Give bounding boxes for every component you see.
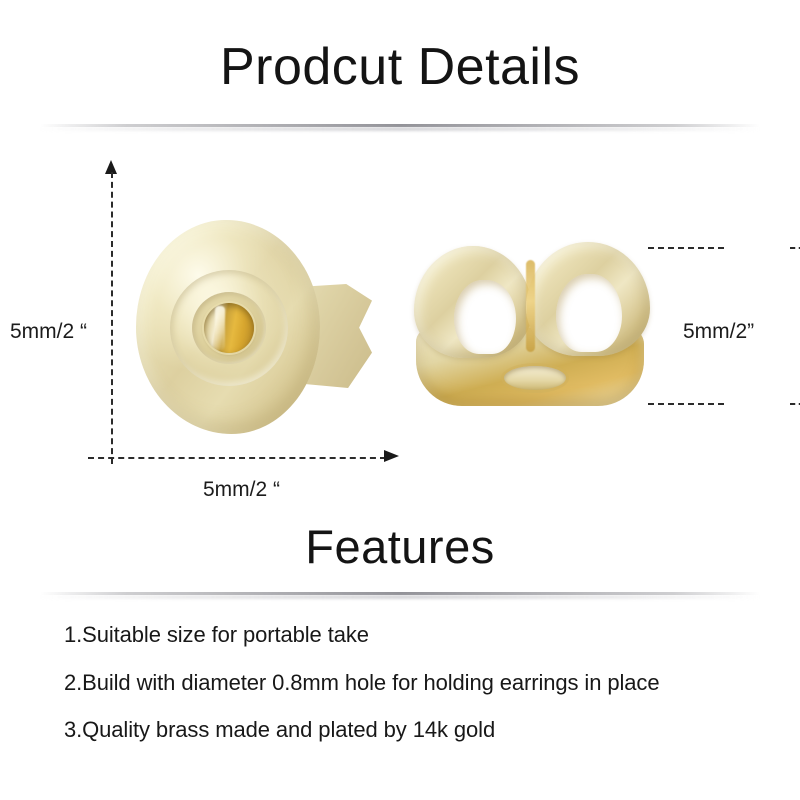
product-detail-page: Prodcut Details 5mm/2 “ 5mm/2 “ 5mm/2” F… (0, 0, 800, 800)
title-divider (40, 124, 760, 127)
vertical-dimension-line (111, 172, 113, 464)
product-image-butterfly-earring-back (408, 242, 658, 412)
feature-list-item: 3.Quality brass made and plated by 14k g… (64, 717, 495, 743)
dimension-guide-dash-top-edge (790, 247, 800, 249)
horizontal-axis-arrowhead-icon (384, 450, 399, 462)
feature-list-item: 2.Build with diameter 0.8mm hole for hol… (64, 670, 659, 696)
butterfly-right-loop-opening (556, 274, 622, 352)
dimension-label-height-right: 5mm/2” (683, 320, 754, 344)
dimension-guide-dash-top (648, 247, 724, 249)
dimension-label-height-left: 5mm/2 “ (10, 320, 87, 344)
butterfly-center-hole (504, 366, 566, 390)
page-title: Prodcut Details (0, 36, 800, 98)
horizontal-dimension-line (88, 457, 386, 459)
features-title: Features (0, 519, 800, 575)
features-divider (40, 592, 760, 595)
disc-hole-highlight (215, 306, 225, 350)
feature-list-item: 1.Suitable size for portable take (64, 622, 369, 648)
dimension-guide-dash-bottom-edge (790, 403, 800, 405)
dimension-label-width-bottom: 5mm/2 “ (203, 478, 280, 502)
disc-center-hole (204, 303, 254, 353)
dimension-guide-dash-bottom (648, 403, 724, 405)
butterfly-center-seam (526, 260, 535, 352)
butterfly-left-loop-opening (454, 280, 516, 354)
product-image-flat-disc-earring-back (130, 212, 380, 444)
